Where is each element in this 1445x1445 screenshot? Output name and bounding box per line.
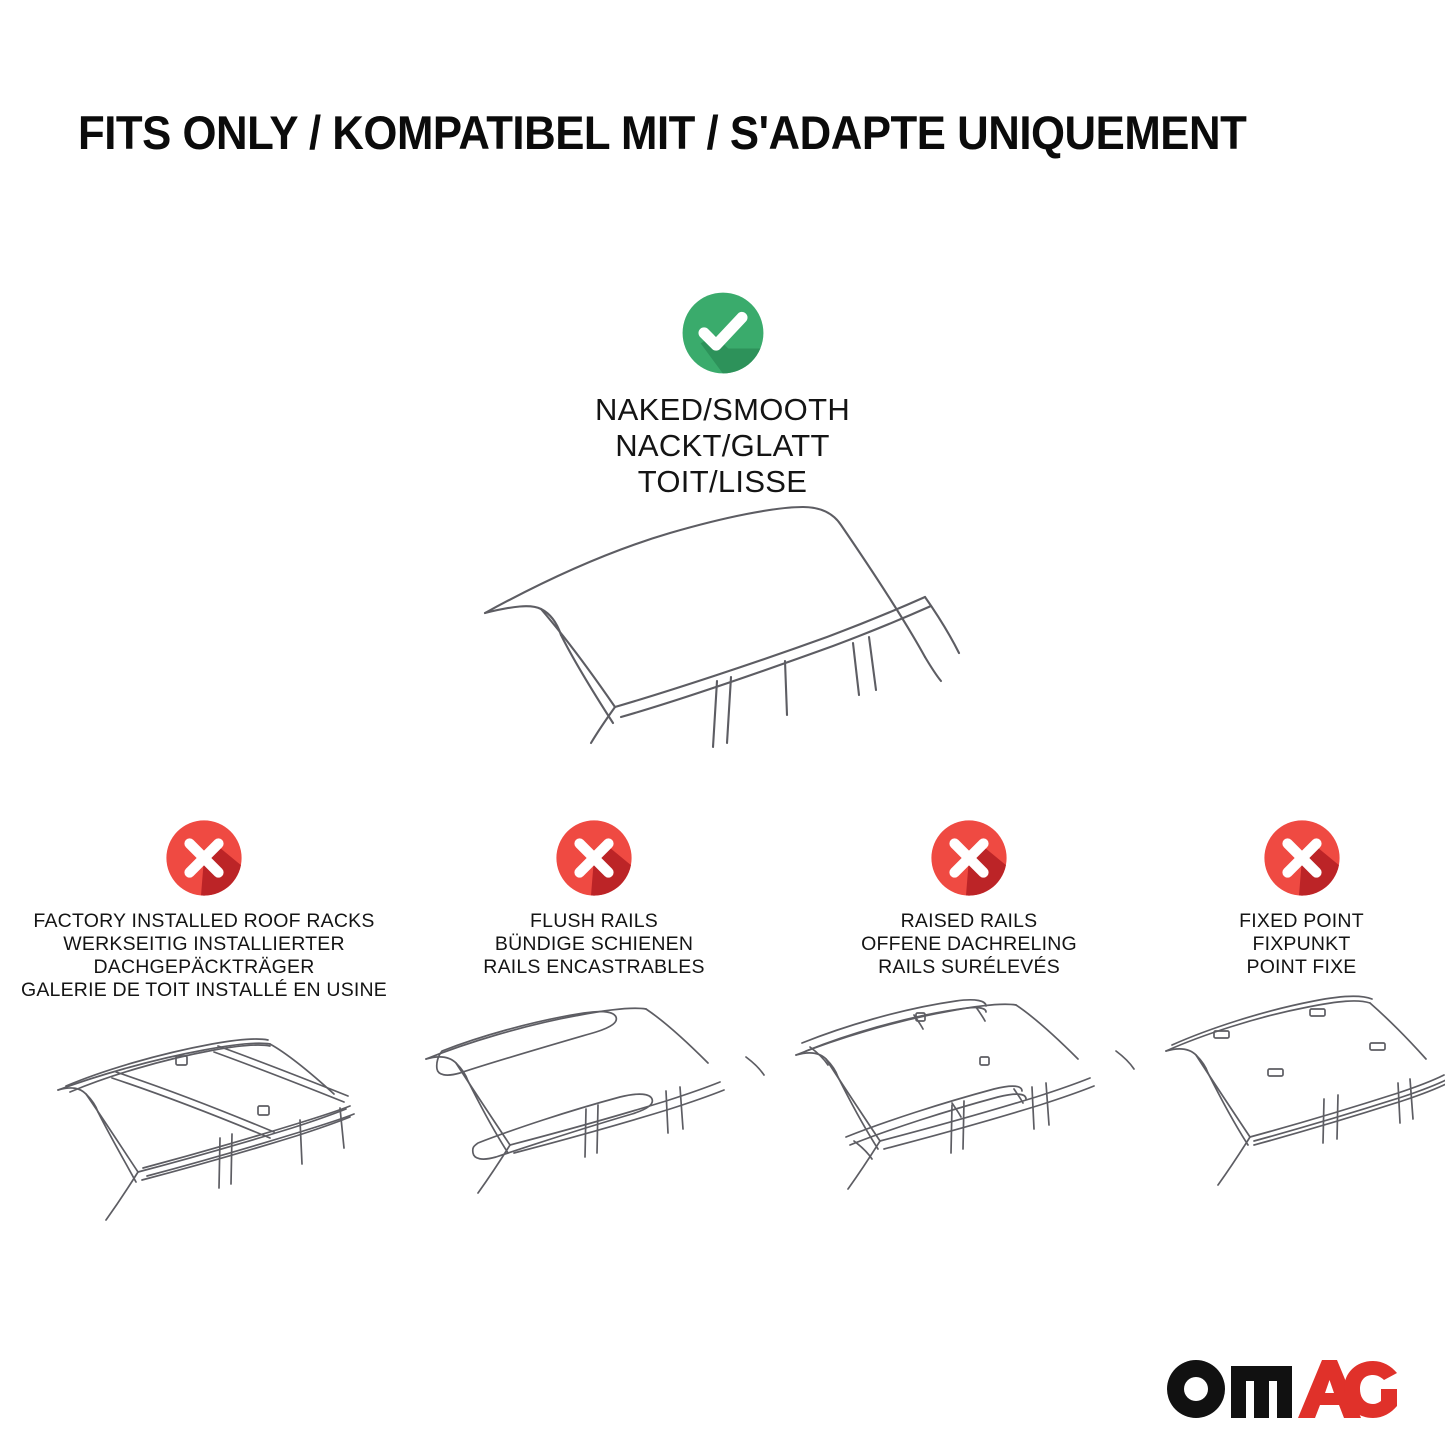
car-roof-flush-rails-illustration xyxy=(408,993,780,1213)
logo-letter-o xyxy=(1167,1360,1225,1418)
incompatible-item-flush-rails: FLUSH RAILS BÜNDIGE SCHIENEN RAILS ENCAS… xyxy=(408,818,780,1213)
x-circle-icon xyxy=(554,818,634,898)
incompatible-item-raised-rails: RAISED RAILS OFFENE DACHRELING RAILS SUR… xyxy=(780,818,1158,1213)
caption-line: NAKED/SMOOTH xyxy=(595,392,850,427)
caption-line: FIXED POINT xyxy=(1239,910,1364,933)
caption-line: DACHGEPÄCKTRÄGER xyxy=(21,956,387,979)
caption-line: POINT FIXE xyxy=(1239,956,1364,979)
check-circle-icon xyxy=(680,290,766,376)
caption-line: FACTORY INSTALLED ROOF RACKS xyxy=(21,910,387,933)
incompatible-row: FACTORY INSTALLED ROOF RACKS WERKSEITIG … xyxy=(0,818,1445,1236)
car-roof-raised-rails-illustration xyxy=(780,993,1158,1213)
caption-line: RAISED RAILS xyxy=(861,910,1077,933)
incompatible-item-factory-roof-racks: FACTORY INSTALLED ROOF RACKS WERKSEITIG … xyxy=(0,818,408,1236)
incompatible-caption: FIXED POINT FIXPUNKT POINT FIXE xyxy=(1239,910,1364,979)
caption-line: FIXPUNKT xyxy=(1239,933,1364,956)
caption-line: NACKT/GLATT xyxy=(615,428,830,463)
caption-line: GALERIE DE TOIT INSTALLÉ EN USINE xyxy=(21,979,387,1002)
compatible-block: NAKED/SMOOTH NACKT/GLATT TOIT/LISSE xyxy=(0,290,1445,500)
car-roof-factory-roof-racks-illustration xyxy=(0,1016,408,1236)
logo-letter-m xyxy=(1231,1366,1292,1418)
caption-line: FLUSH RAILS xyxy=(483,910,704,933)
caption-line: RAILS SURÉLEVÉS xyxy=(861,956,1077,979)
caption-line: OFFENE DACHRELING xyxy=(861,933,1077,956)
incompatible-caption: FLUSH RAILS BÜNDIGE SCHIENEN RAILS ENCAS… xyxy=(483,910,704,979)
incompatible-caption: RAISED RAILS OFFENE DACHRELING RAILS SUR… xyxy=(861,910,1077,979)
caption-line: RAILS ENCASTRABLES xyxy=(483,956,704,979)
caption-line: WERKSEITIG INSTALLIERTER xyxy=(21,933,387,956)
compatible-caption: NAKED/SMOOTH NACKT/GLATT TOIT/LISSE xyxy=(595,392,850,500)
incompatible-item-fixed-point: FIXED POINT FIXPUNKT POINT FIXE xyxy=(1158,818,1445,1213)
x-circle-icon xyxy=(164,818,244,898)
car-roof-fixed-point-illustration xyxy=(1158,993,1445,1213)
page-title: FITS ONLY / KOMPATIBEL MIT / S'ADAPTE UN… xyxy=(78,108,1287,157)
poster-canvas: FITS ONLY / KOMPATIBEL MIT / S'ADAPTE UN… xyxy=(0,0,1445,1445)
x-circle-icon xyxy=(1262,818,1342,898)
incompatible-caption: FACTORY INSTALLED ROOF RACKS WERKSEITIG … xyxy=(21,910,387,1002)
car-roof-naked-smooth-illustration xyxy=(455,485,1015,755)
x-circle-icon xyxy=(929,818,1009,898)
caption-line: BÜNDIGE SCHIENEN xyxy=(483,933,704,956)
omac-logo xyxy=(1165,1349,1397,1423)
